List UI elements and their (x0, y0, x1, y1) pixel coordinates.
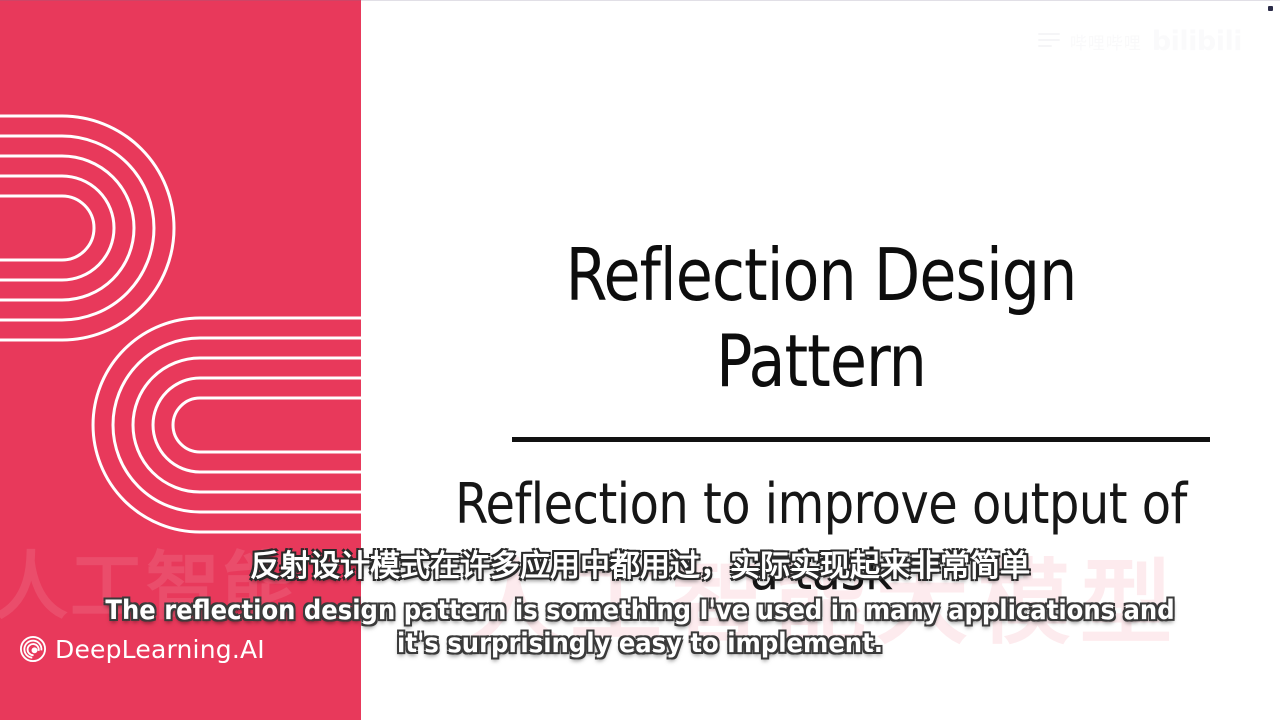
title-divider (512, 437, 1210, 442)
bilibili-watermark: 哔哩哔哩 bilibili (1038, 26, 1242, 57)
caption-english-line-2: it's surprisingly easy to implement. (0, 627, 1280, 660)
concentric-arc-decoration-bottom (88, 312, 361, 538)
slide-subtitle: Reflection to improve output of a task (451, 472, 1192, 604)
top-hairline (0, 0, 1280, 1)
bilibili-site-label: 哔哩哔哩 (1070, 29, 1142, 54)
hamburger-icon (1038, 33, 1060, 51)
bilibili-logo-text: bilibili (1152, 26, 1242, 57)
corner-indicator-dot (1268, 6, 1273, 11)
caption-english-line-1: The reflection design pattern is somethi… (0, 594, 1280, 627)
caption-english: The reflection design pattern is somethi… (0, 594, 1280, 660)
caption-chinese: 反射设计模式在许多应用中都用过，实际实现起来非常简单 (0, 550, 1280, 584)
video-frame: 人工智能 DeepLearning.AI 人工智能大模型 Reflection … (0, 0, 1280, 720)
slide-title: Reflection Design Pattern (477, 232, 1165, 404)
